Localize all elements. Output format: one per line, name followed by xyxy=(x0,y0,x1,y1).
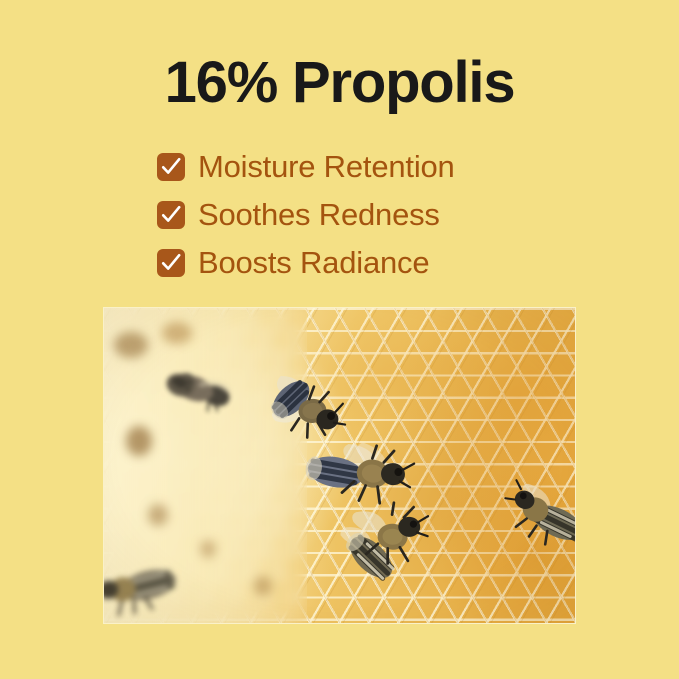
pollen-speck xyxy=(200,540,216,558)
propolis-benefits-poster: 16% Propolis Moisture Retention Soothes … xyxy=(0,0,679,679)
benefits-list: Moisture Retention Soothes Redness Boost… xyxy=(157,143,577,287)
list-item-label: Moisture Retention xyxy=(198,150,455,184)
honeycomb-photo xyxy=(104,308,575,623)
checked-checkbox-icon xyxy=(157,153,185,181)
pollen-speck xyxy=(114,332,148,358)
checked-checkbox-icon xyxy=(157,249,185,277)
list-item-label: Soothes Redness xyxy=(198,198,440,232)
honeycomb-photo-content xyxy=(104,308,575,623)
list-item: Soothes Redness xyxy=(157,191,577,239)
bee xyxy=(331,493,433,595)
checked-checkbox-icon xyxy=(157,201,185,229)
pollen-speck xyxy=(126,426,152,456)
pollen-speck xyxy=(162,322,192,344)
list-item: Moisture Retention xyxy=(157,143,577,191)
list-item-label: Boosts Radiance xyxy=(198,246,429,280)
pollen-speck xyxy=(254,576,272,596)
pollen-speck xyxy=(148,504,168,526)
list-item: Boosts Radiance xyxy=(157,239,577,287)
page-title: 16% Propolis xyxy=(0,52,679,114)
